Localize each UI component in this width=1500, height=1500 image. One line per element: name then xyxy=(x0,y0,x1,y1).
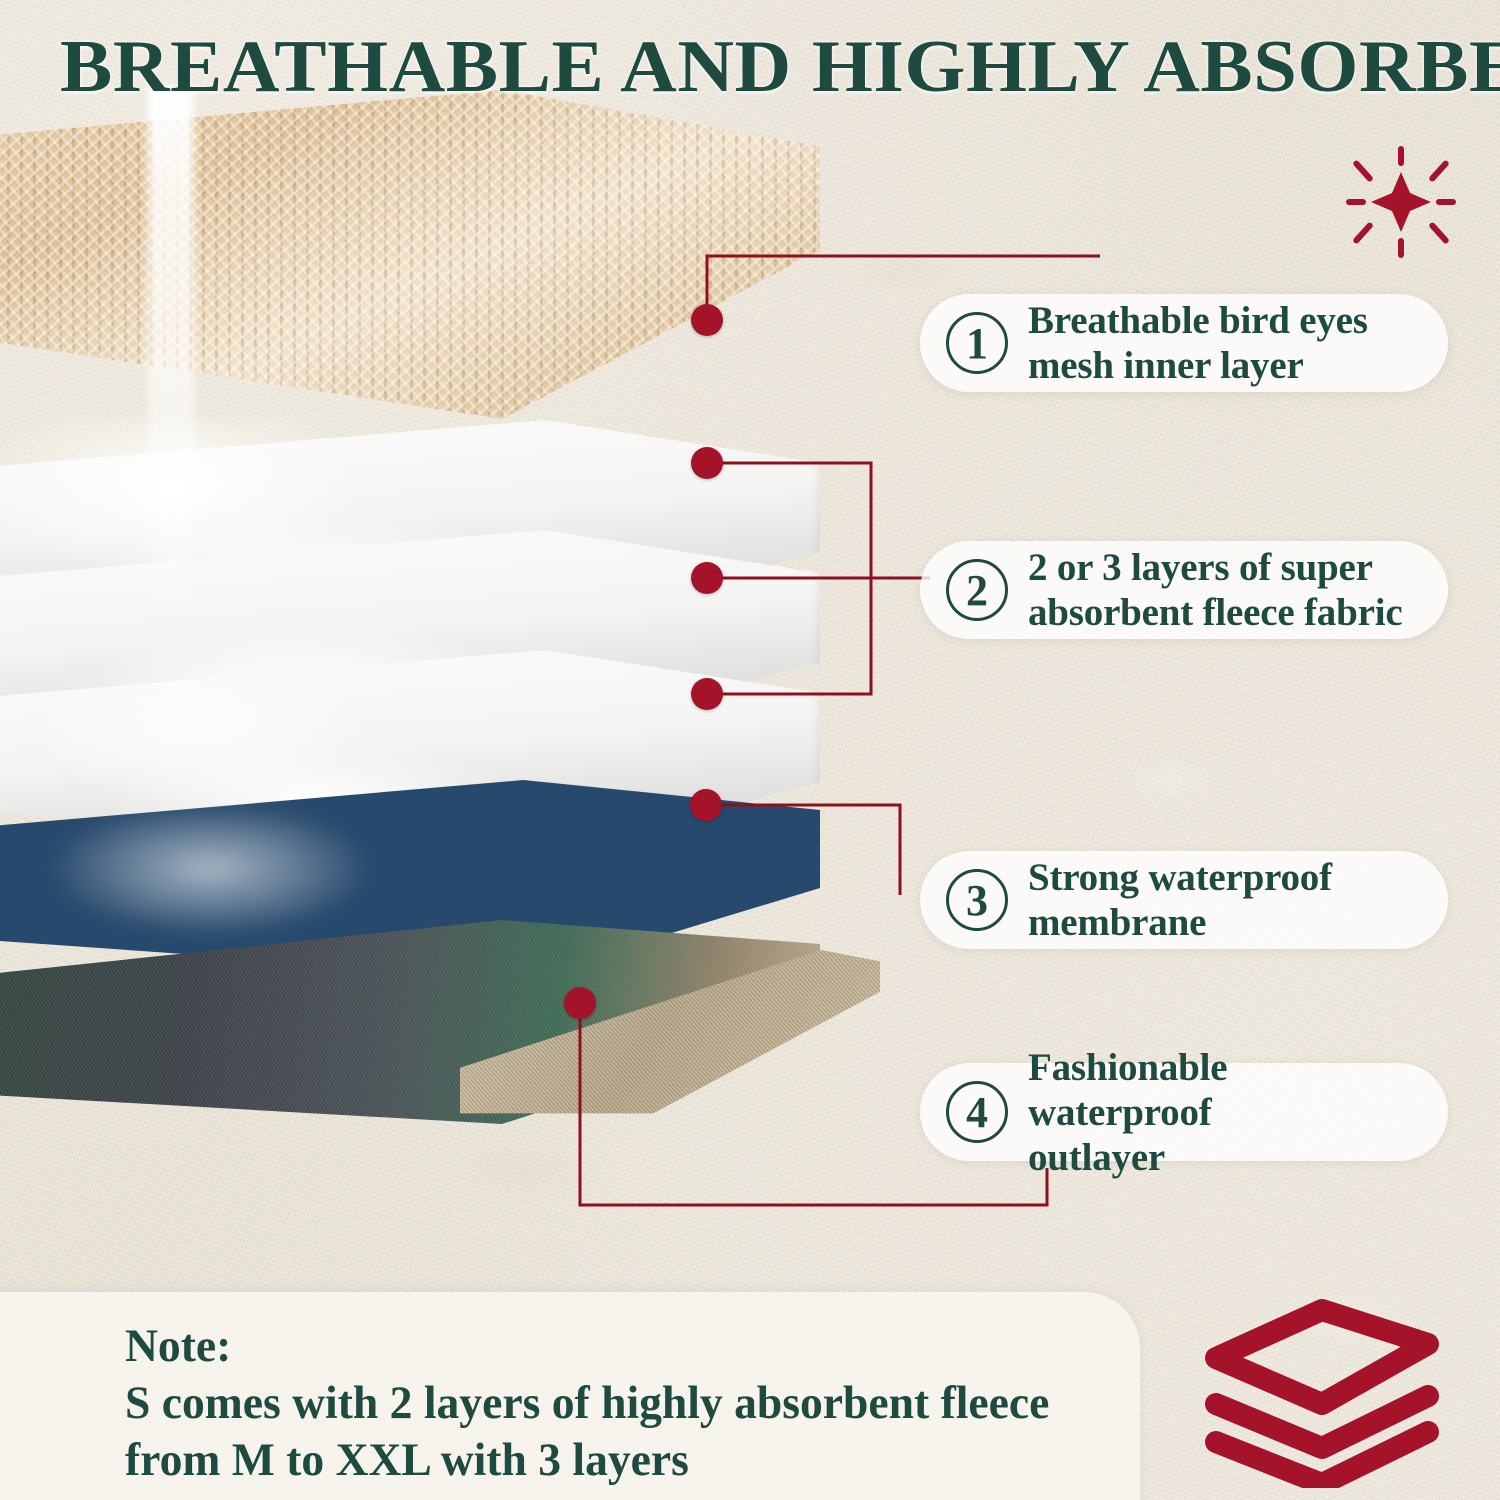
callout-text-3: Strong waterproof membrane xyxy=(1028,855,1332,945)
layers-stack-icon xyxy=(1192,1296,1452,1488)
callout-number-2: 2 xyxy=(946,559,1008,621)
infographic-stage: BREATHABLE AND HIGHLY ABSORBENT xyxy=(0,0,1500,1500)
callout-number-4: 4 xyxy=(946,1081,1008,1143)
note-line-1: S comes with 2 layers of highly absorben… xyxy=(125,1375,1153,1432)
water-splash-1 xyxy=(0,420,390,590)
callout-3-line-2: membrane xyxy=(1028,900,1332,945)
callout-4[interactable]: 4 Fashionable waterproof outlayer xyxy=(920,1063,1448,1161)
callout-dot-4 xyxy=(564,987,596,1019)
callout-2-line-1: 2 or 3 layers of super xyxy=(1028,545,1402,590)
water-splash-2 xyxy=(10,660,390,810)
callout-2[interactable]: 2 2 or 3 layers of super absorbent fleec… xyxy=(920,541,1448,639)
note-text-block: Note: S comes with 2 layers of highly ab… xyxy=(125,1318,1153,1489)
callout-dot-2c xyxy=(691,678,723,710)
callout-1[interactable]: 1 Breathable bird eyes mesh inner layer xyxy=(920,294,1448,392)
callout-dot-2a xyxy=(691,447,723,479)
callout-1-line-1: Breathable bird eyes xyxy=(1028,298,1368,343)
water-splash-3 xyxy=(40,810,380,940)
callout-4-line-2: outlayer xyxy=(1028,1135,1418,1180)
callout-3[interactable]: 3 Strong waterproof membrane xyxy=(920,851,1448,949)
callout-4-line-1: Fashionable waterproof xyxy=(1028,1045,1418,1135)
sparkle-icon xyxy=(1346,146,1456,258)
callout-number-3: 3 xyxy=(946,869,1008,931)
callout-text-2: 2 or 3 layers of super absorbent fleece … xyxy=(1028,545,1402,635)
callout-dot-2b xyxy=(691,562,723,594)
page-title: BREATHABLE AND HIGHLY ABSORBENT xyxy=(60,28,1500,106)
note-line-2: from M to XXL with 3 layers xyxy=(125,1432,1153,1489)
callout-2-line-2: absorbent fleece fabric xyxy=(1028,590,1402,635)
callout-text-4: Fashionable waterproof outlayer xyxy=(1028,1045,1418,1180)
fabric-layer-stack xyxy=(0,90,880,1180)
callout-3-line-1: Strong waterproof xyxy=(1028,855,1332,900)
callout-dot-1 xyxy=(691,304,723,336)
note-heading: Note: xyxy=(125,1318,1153,1375)
callout-text-1: Breathable bird eyes mesh inner layer xyxy=(1028,298,1368,388)
callout-1-line-2: mesh inner layer xyxy=(1028,343,1368,388)
callout-dot-3 xyxy=(690,789,722,821)
callout-number-1: 1 xyxy=(946,312,1008,374)
